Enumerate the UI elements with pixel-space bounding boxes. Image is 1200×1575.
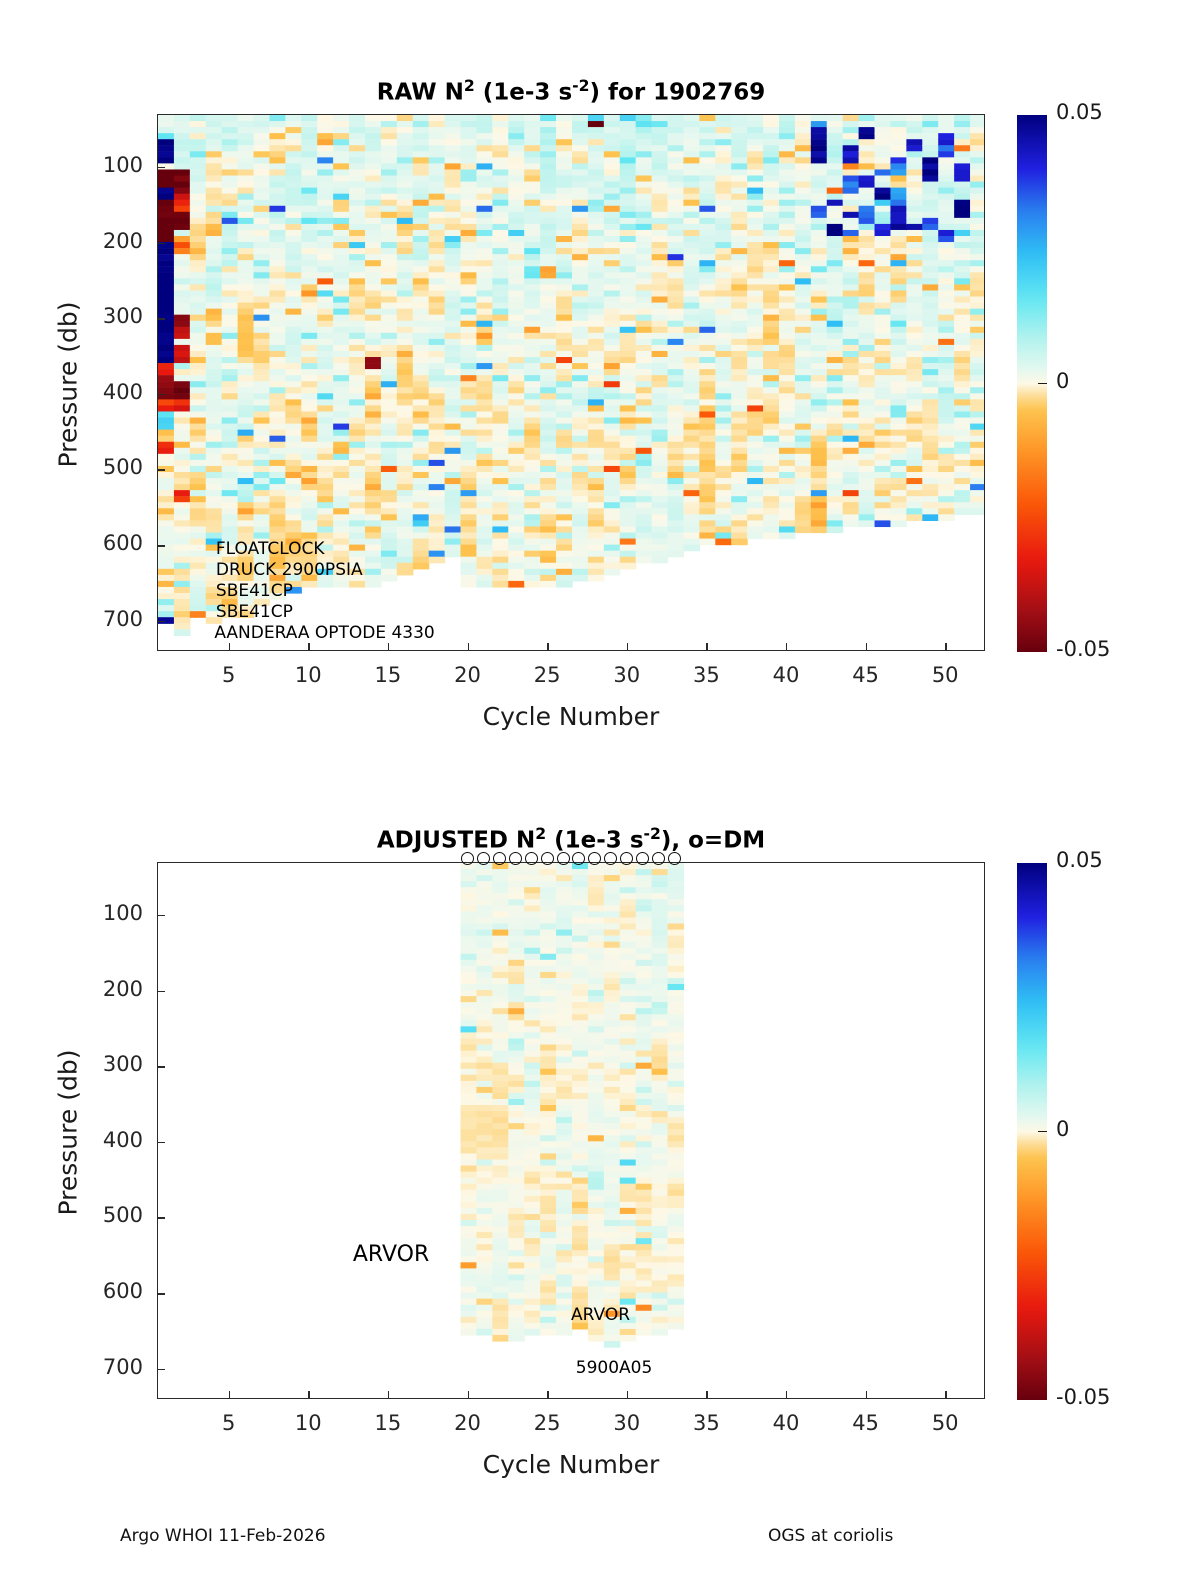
plot-annotation: DRUCK 2900PSIA [216,560,363,580]
adj-title-pre: ADJUSTED N [377,828,535,854]
x-axis-tick-mark [388,643,389,651]
x-axis-tick-mark [388,1391,389,1399]
y-axis-tick-mark [157,469,165,470]
y-axis-tick-label: 700 [79,1355,143,1379]
colorbar-tick-label: -0.05 [1056,1385,1110,1409]
x-axis-tick-label: 40 [756,1411,816,1435]
y-axis-tick-mark [157,915,165,916]
y-axis-tick-mark [157,1142,165,1143]
y-axis-tick-mark [157,394,165,395]
y-axis-tick-mark [157,621,165,622]
x-axis-tick-label: 35 [676,1411,736,1435]
x-axis-tick-mark [866,1391,867,1399]
x-axis-tick-mark [308,643,309,651]
adjusted-y-axis-label: Pressure (db) [54,1003,83,1263]
y-axis-tick-label: 500 [79,455,143,479]
y-axis-tick-mark [157,1293,165,1294]
y-axis-tick-label: 300 [79,1052,143,1076]
x-axis-tick-label: 5 [199,663,259,687]
x-axis-tick-mark [786,643,787,651]
delayed-mode-marker [461,852,474,865]
footer-right-text: OGS at coriolis [768,1526,893,1546]
y-axis-tick-mark [157,1217,165,1218]
y-axis-tick-mark [157,545,165,546]
y-axis-tick-label: 400 [79,1128,143,1152]
footer-left-text: Argo WHOI 11-Feb-2026 [120,1526,326,1546]
x-axis-tick-mark [866,643,867,651]
delayed-mode-marker [604,852,617,865]
delayed-mode-marker [668,852,681,865]
y-axis-tick-label: 100 [79,153,143,177]
raw-y-axis-label: Pressure (db) [54,255,83,515]
colorbar-tick-label: 0 [1056,1117,1069,1141]
x-axis-tick-mark [945,643,946,651]
delayed-mode-marker [620,852,633,865]
plot-annotation: 5900A05 [576,1358,653,1378]
x-axis-tick-label: 50 [915,1411,975,1435]
x-axis-tick-mark [706,643,707,651]
x-axis-tick-mark [547,1391,548,1399]
adjusted-x-axis-label: Cycle Number [157,1450,985,1479]
raw-title-sup1: 2 [464,76,475,95]
x-axis-tick-mark [945,1391,946,1399]
x-axis-tick-mark [786,1391,787,1399]
delayed-mode-marker [541,852,554,865]
y-axis-tick-label: 700 [79,607,143,631]
colorbar-tick-mark [1038,1131,1047,1133]
y-axis-tick-label: 600 [79,531,143,555]
x-axis-tick-label: 10 [278,663,338,687]
raw-title-post: ) for 1902769 [590,80,766,106]
adj-title-mid: (1e-3 s [546,828,643,854]
raw-panel-title: RAW N2 (1e-3 s-2) for 1902769 [157,76,985,106]
delayed-mode-marker [652,852,665,865]
plot-annotation: SBE41CP [216,602,293,622]
adj-title-sup2: -2 [644,824,661,843]
delayed-mode-marker [572,852,585,865]
x-axis-tick-label: 15 [358,663,418,687]
delayed-mode-marker [636,852,649,865]
x-axis-tick-label: 35 [676,663,736,687]
y-axis-tick-label: 100 [79,901,143,925]
y-axis-tick-mark [157,991,165,992]
x-axis-tick-mark [547,643,548,651]
x-axis-tick-mark [229,643,230,651]
x-axis-tick-mark [308,1391,309,1399]
plot-annotation: SBE41CP [216,581,293,601]
x-axis-tick-label: 25 [517,663,577,687]
delayed-mode-marker [588,852,601,865]
x-axis-tick-label: 40 [756,663,816,687]
x-axis-tick-mark [627,1391,628,1399]
raw-title-sup2: -2 [572,76,589,95]
y-axis-tick-label: 200 [79,977,143,1001]
y-axis-tick-label: 400 [79,380,143,404]
colorbar-tick-label: 0.05 [1056,100,1103,124]
raw-title-pre: RAW N [377,80,464,106]
raw-x-axis-label: Cycle Number [157,702,985,731]
plot-annotation: FLOATCLOCK [216,539,325,559]
adjusted-panel: ADJUSTED N2 (1e-3 s-2), o=DM 10020030040… [0,770,1200,1470]
x-axis-tick-label: 20 [438,663,498,687]
x-axis-tick-label: 30 [597,1411,657,1435]
raw-title-mid: (1e-3 s [475,80,572,106]
x-axis-tick-mark [706,1391,707,1399]
y-axis-tick-label: 600 [79,1279,143,1303]
y-axis-tick-mark [157,1369,165,1370]
plot-annotation: ARVOR [571,1305,630,1325]
colorbar-tick-label: 0.05 [1056,848,1103,872]
adj-title-post: ), o=DM [661,828,765,854]
x-axis-tick-label: 25 [517,1411,577,1435]
x-axis-tick-label: 45 [836,1411,896,1435]
adjusted-panel-title: ADJUSTED N2 (1e-3 s-2), o=DM [157,824,985,854]
adj-title-sup1: 2 [535,824,546,843]
y-axis-tick-label: 500 [79,1203,143,1227]
x-axis-tick-label: 5 [199,1411,259,1435]
delayed-mode-marker [509,852,522,865]
x-axis-tick-mark [229,1391,230,1399]
delayed-mode-marker [525,852,538,865]
y-axis-tick-label: 300 [79,304,143,328]
colorbar-tick-label: 0 [1056,369,1069,393]
x-axis-tick-label: 50 [915,663,975,687]
x-axis-tick-label: 15 [358,1411,418,1435]
delayed-mode-marker [557,852,570,865]
plot-annotation: ARVOR [353,1242,429,1267]
y-axis-tick-label: 200 [79,229,143,253]
y-axis-tick-mark [157,167,165,168]
colorbar-tick-mark [1038,383,1047,385]
raw-panel: RAW N2 (1e-3 s-2) for 1902769 1002003004… [0,0,1200,780]
x-axis-tick-label: 45 [836,663,896,687]
delayed-mode-marker [477,852,490,865]
y-axis-tick-mark [157,1066,165,1067]
plot-annotation: AANDERAA OPTODE 4330 [214,623,434,643]
x-axis-tick-mark [468,643,469,651]
delayed-mode-marker-row [157,852,985,870]
x-axis-tick-mark [468,1391,469,1399]
x-axis-tick-label: 20 [438,1411,498,1435]
x-axis-tick-label: 10 [278,1411,338,1435]
y-axis-tick-mark [157,318,165,319]
y-axis-tick-mark [157,243,165,244]
delayed-mode-marker [493,852,506,865]
colorbar-tick-label: -0.05 [1056,637,1110,661]
x-axis-tick-mark [627,643,628,651]
x-axis-tick-label: 30 [597,663,657,687]
